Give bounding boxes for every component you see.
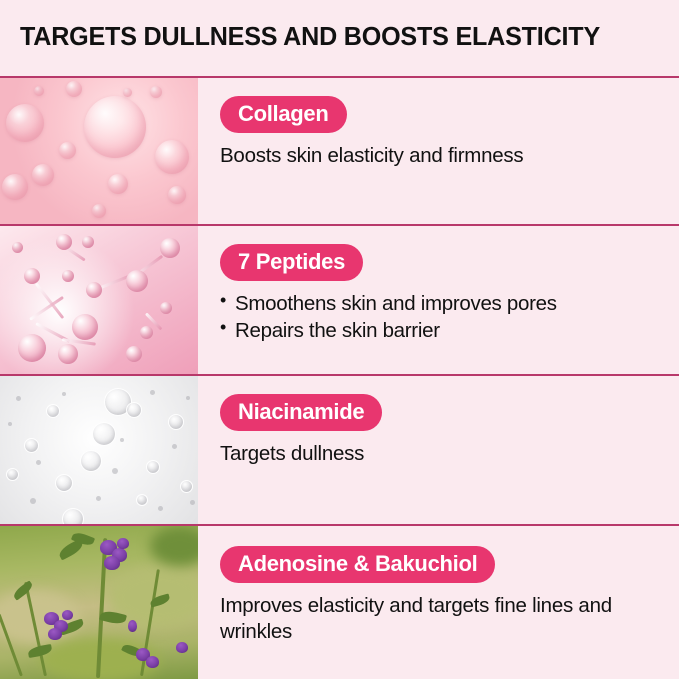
ingredient-badge-peptides[interactable]: 7 Peptides <box>220 244 363 281</box>
row-content-collagen: Collagen Boosts skin elasticity and firm… <box>198 78 679 224</box>
ingredient-description-niacinamide: Targets dullness <box>220 441 364 467</box>
ingredient-row-collagen: Collagen Boosts skin elasticity and firm… <box>0 78 679 226</box>
thumbnail-white-foam <box>0 376 198 524</box>
ingredient-row-niacinamide: Niacinamide Targets dullness <box>0 376 679 526</box>
ingredient-row-peptides: 7 Peptides Smoothens skin and improves p… <box>0 226 679 376</box>
row-content-niacinamide: Niacinamide Targets dullness <box>198 376 679 524</box>
pink-molecule-icon <box>0 226 198 374</box>
ingredient-benefits-infographic: TARGETS DULLNESS AND BOOSTS ELASTICITY <box>0 0 679 679</box>
ingredient-badge-niacinamide[interactable]: Niacinamide <box>220 394 382 431</box>
thumbnail-alfalfa-field <box>0 526 198 679</box>
row-content-peptides: 7 Peptides Smoothens skin and improves p… <box>198 226 679 374</box>
ingredient-rows: Collagen Boosts skin elasticity and firm… <box>0 78 679 679</box>
ingredient-badge-collagen[interactable]: Collagen <box>220 96 347 133</box>
ingredient-description-collagen: Boosts skin elasticity and firmness <box>220 143 523 169</box>
list-item: Smoothens skin and improves pores <box>220 290 557 317</box>
pink-bubbles-icon <box>0 78 198 224</box>
ingredient-badge-adenosine-bakuchiol[interactable]: Adenosine & Bakuchiol <box>220 546 495 583</box>
thumbnail-pink-molecule <box>0 226 198 374</box>
alfalfa-flowers-icon <box>0 526 198 679</box>
header-banner: TARGETS DULLNESS AND BOOSTS ELASTICITY <box>0 0 679 78</box>
ingredient-bullet-list-peptides: Smoothens skin and improves pores Repair… <box>220 290 557 345</box>
ingredient-description-adenosine-bakuchiol: Improves elasticity and targets fine lin… <box>220 593 665 645</box>
thumbnail-pink-bubbles <box>0 78 198 224</box>
ingredient-row-adenosine-bakuchiol: Adenosine & Bakuchiol Improves elasticit… <box>0 526 679 679</box>
row-content-adenosine-bakuchiol: Adenosine & Bakuchiol Improves elasticit… <box>198 526 679 679</box>
page-title: TARGETS DULLNESS AND BOOSTS ELASTICITY <box>20 25 600 51</box>
list-item: Repairs the skin barrier <box>220 317 557 344</box>
white-foam-bubbles-icon <box>0 376 198 524</box>
